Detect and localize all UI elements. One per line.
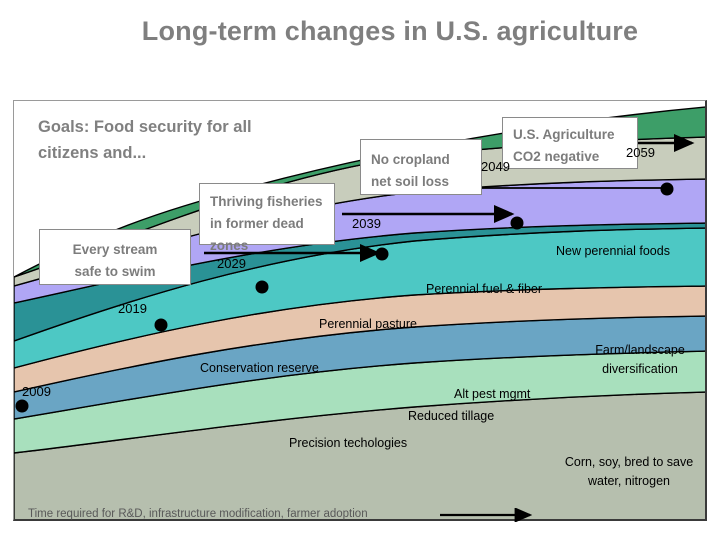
- callout-co2-negative: U.S. Agriculture CO2 negative: [502, 117, 638, 169]
- milestone-dot-2019: [155, 319, 168, 332]
- band-label-farm-landscape-diversification: Farm/landscape diversification: [580, 341, 700, 379]
- bottom-caption: Time required for R&D, infrastructure mo…: [28, 508, 368, 520]
- band-label-corn-soy-line-1: Corn, soy, bred to save: [554, 453, 704, 472]
- year-label-2039: 2039: [352, 216, 381, 231]
- band-label-corn-soy: Corn, soy, bred to save water, nitrogen: [554, 453, 704, 491]
- milestone-dot-2009: [16, 400, 29, 413]
- band-label-conservation-reserve: Conservation reserve: [200, 359, 319, 378]
- page-title: Long-term changes in U.S. agriculture: [0, 16, 720, 47]
- callout-every-stream: Every stream safe to swim: [39, 229, 191, 285]
- year-label-2029: 2029: [217, 256, 246, 271]
- callout-co2-line-2: CO2 negative: [513, 146, 627, 168]
- band-label-new-perennial-foods: New perennial foods: [556, 242, 670, 261]
- band-label-corn-soy-line-2: water, nitrogen: [554, 472, 704, 491]
- band-label-reduced-tillage: Reduced tillage: [408, 407, 494, 426]
- band-label-perennial-fuel-fiber: Perennial fuel & fiber: [426, 280, 542, 299]
- callout-no-cropland-line-1: No cropland: [371, 149, 471, 171]
- figure-frame: Goals: Food security for all citizens an…: [13, 100, 707, 521]
- callout-every-stream-line-1: Every stream: [50, 239, 180, 261]
- year-label-2019: 2019: [118, 301, 147, 316]
- callout-thriving-fisheries: Thriving fisheries in former dead zones: [199, 183, 335, 245]
- band-label-precision-technologies: Precision techologies: [289, 434, 407, 453]
- band-label-alt-pest-mgmt: Alt pest mgmt: [454, 385, 530, 404]
- year-label-2059: 2059: [626, 145, 655, 160]
- goals-heading: Goals: Food security for all citizens an…: [38, 115, 368, 166]
- milestone-dot-2059: [661, 183, 674, 196]
- bottom-caption-arrow-icon: [440, 508, 540, 522]
- goals-line-2: citizens and...: [38, 141, 368, 167]
- year-label-2049: 2049: [481, 159, 510, 174]
- year-label-2009: 2009: [22, 384, 51, 399]
- milestone-dot-2049: [511, 217, 524, 230]
- callout-fisheries-line-2: in former dead: [210, 213, 324, 235]
- callout-every-stream-line-2: safe to swim: [50, 261, 180, 283]
- band-label-farm-landscape-line-2: diversification: [580, 360, 700, 379]
- callout-fisheries-line-1: Thriving fisheries: [210, 191, 324, 213]
- callout-co2-line-1: U.S. Agriculture: [513, 124, 627, 146]
- callout-fisheries-line-3: zones: [210, 235, 324, 257]
- goals-line-1: Goals: Food security for all: [38, 115, 368, 141]
- band-label-farm-landscape-line-1: Farm/landscape: [580, 341, 700, 360]
- callout-no-cropland-line-2: net soil loss: [371, 171, 471, 193]
- milestone-dot-2029: [256, 281, 269, 294]
- callout-no-cropland-soil-loss: No cropland net soil loss: [360, 139, 482, 195]
- band-label-perennial-pasture: Perennial pasture: [319, 315, 417, 334]
